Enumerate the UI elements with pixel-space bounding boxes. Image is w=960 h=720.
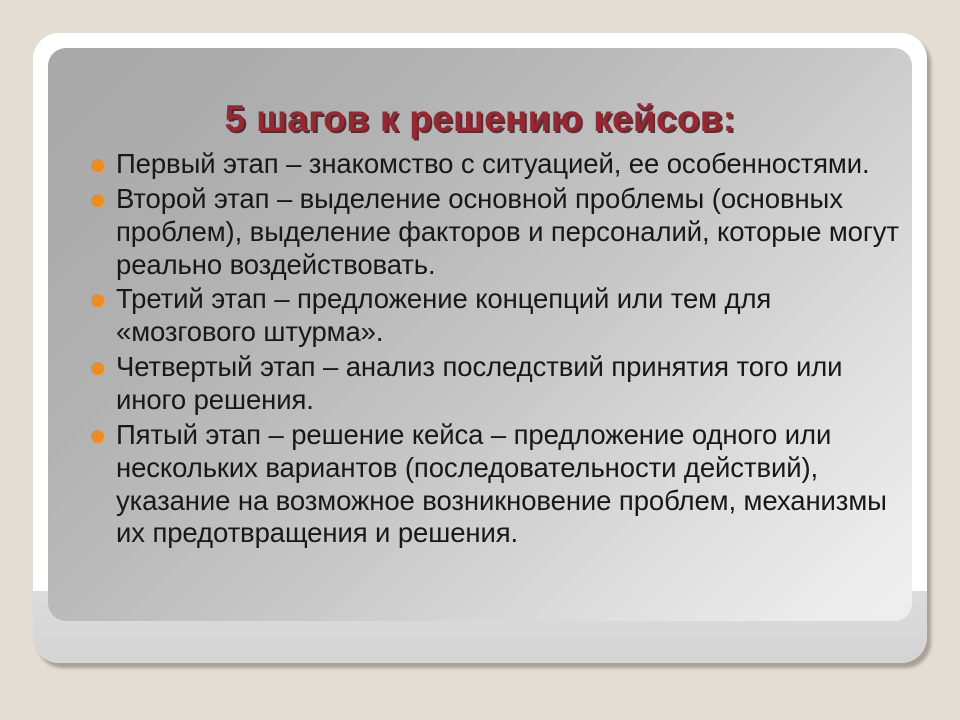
list-item: Первый этап – знакомство с ситуацией, ее… <box>66 148 906 181</box>
list-item: Третий этап – предложение концепций или … <box>66 283 906 349</box>
filled-circle-bullet-icon <box>91 362 104 375</box>
page-title: 5 шагов к решению кейсов: <box>48 98 912 140</box>
slide-card: 5 шагов к решению кейсов: Первый этап – … <box>33 33 927 663</box>
list-item-label: Четвертый этап – анализ последствий прин… <box>116 351 906 417</box>
list-item-label: Пятый этап – решение кейса – предложение… <box>116 419 906 550</box>
bullet-list: Первый этап – знакомство с ситуацией, ее… <box>66 148 906 552</box>
list-item-label: Третий этап – предложение концепций или … <box>116 283 906 349</box>
list-item: Четвертый этап – анализ последствий прин… <box>66 351 906 417</box>
slide-canvas: 5 шагов к решению кейсов: Первый этап – … <box>0 0 960 720</box>
filled-circle-bullet-icon <box>91 159 104 172</box>
list-item-label: Первый этап – знакомство с ситуацией, ее… <box>116 148 906 181</box>
list-item: Второй этап – выделение основной проблем… <box>66 183 906 282</box>
filled-circle-bullet-icon <box>91 294 104 307</box>
slide-content-panel: 5 шагов к решению кейсов: Первый этап – … <box>48 48 912 621</box>
filled-circle-bullet-icon <box>91 194 104 207</box>
list-item-label: Второй этап – выделение основной проблем… <box>116 183 906 282</box>
list-item: Пятый этап – решение кейса – предложение… <box>66 419 906 550</box>
filled-circle-bullet-icon <box>91 430 104 443</box>
